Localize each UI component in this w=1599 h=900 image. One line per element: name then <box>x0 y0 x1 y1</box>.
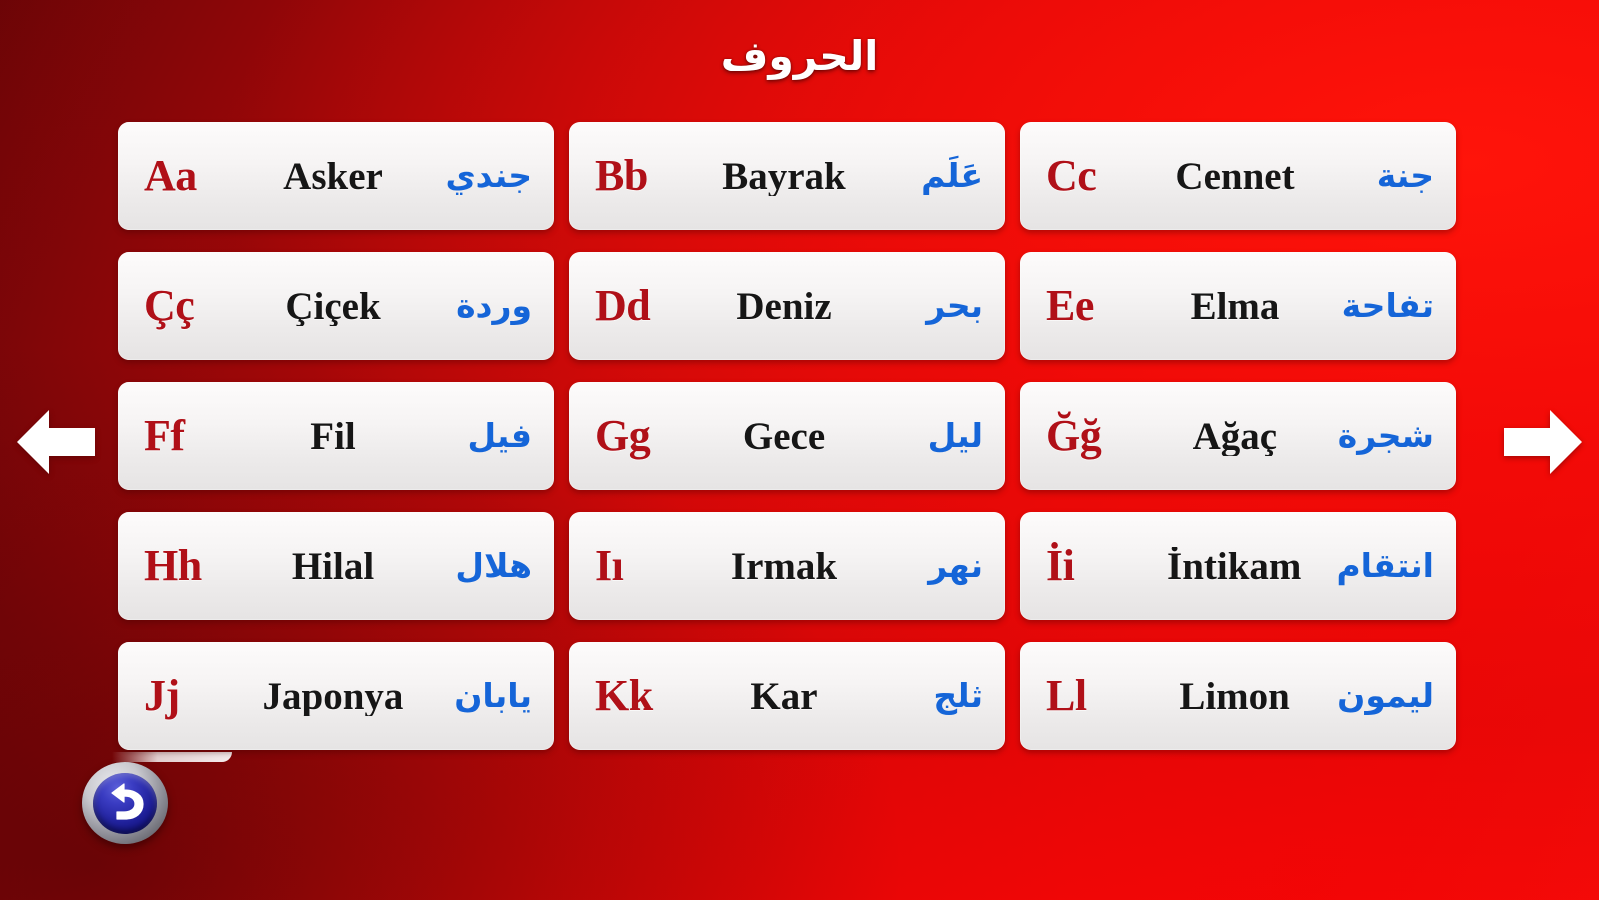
card-word-turkish: Deniz <box>681 287 887 326</box>
letter-card[interactable]: CcCennetجنة <box>1020 122 1456 230</box>
card-word-arabic: فيل <box>436 417 532 455</box>
card-word-arabic: شجرة <box>1338 417 1434 455</box>
letter-card[interactable]: HhHilalهلال <box>118 512 554 620</box>
card-letter: Jj <box>144 674 230 718</box>
letter-card[interactable]: DdDenizبحر <box>569 252 1005 360</box>
previous-page-button[interactable] <box>8 396 104 488</box>
letter-card[interactable]: KkKarثلج <box>569 642 1005 750</box>
next-page-button[interactable] <box>1495 396 1591 488</box>
card-word-arabic: وردة <box>436 287 532 325</box>
card-word-turkish: Hilal <box>230 547 436 586</box>
card-letter: Ff <box>144 414 230 458</box>
letter-card[interactable]: IıIrmakنهر <box>569 512 1005 620</box>
card-word-turkish: Japonya <box>230 677 436 716</box>
card-letter: Dd <box>595 284 681 328</box>
card-word-arabic: ليل <box>887 417 983 455</box>
card-word-turkish: Asker <box>230 157 436 196</box>
card-letter: Cc <box>1046 154 1132 198</box>
card-letter: Iı <box>595 544 681 588</box>
card-word-arabic: ليمون <box>1337 677 1434 715</box>
page-title: الحروف <box>721 36 879 77</box>
letter-card[interactable]: LlLimonليمون <box>1020 642 1456 750</box>
app-root: الحروف AaAskerجنديBbBayrakعَلَمCcCennetج… <box>0 0 1599 900</box>
card-letter: Gg <box>595 414 681 458</box>
arrow-right-icon <box>1500 400 1586 484</box>
title-bar: الحروف <box>0 0 1599 112</box>
card-word-turkish: Fil <box>230 417 436 456</box>
letter-card[interactable]: ĞğAğaçشجرة <box>1020 382 1456 490</box>
letter-card[interactable]: BbBayrakعَلَم <box>569 122 1005 230</box>
card-letter: Aa <box>144 154 230 198</box>
card-word-arabic: جندي <box>436 157 532 195</box>
letter-card[interactable]: JjJaponyaيابان <box>118 642 554 750</box>
letter-card[interactable]: ÇçÇiçekوردة <box>118 252 554 360</box>
back-button[interactable] <box>82 762 168 844</box>
card-word-arabic: انتقام <box>1336 547 1434 585</box>
letter-card[interactable]: İiİntikamانتقام <box>1020 512 1456 620</box>
letter-card[interactable]: GgGeceليل <box>569 382 1005 490</box>
letter-card[interactable]: FfFilفيل <box>118 382 554 490</box>
card-letter: İi <box>1046 544 1132 588</box>
card-word-arabic: عَلَم <box>887 157 983 195</box>
card-word-turkish: Irmak <box>681 547 887 586</box>
card-letter: Hh <box>144 544 230 588</box>
card-letter: Kk <box>595 674 681 718</box>
letter-card[interactable]: AaAskerجندي <box>118 122 554 230</box>
card-word-turkish: Çiçek <box>230 287 436 326</box>
card-word-turkish: Elma <box>1132 287 1338 326</box>
card-word-turkish: Kar <box>681 677 887 716</box>
card-word-arabic: هلال <box>436 547 532 585</box>
card-letter: Ll <box>1046 674 1132 718</box>
card-letter: Ğğ <box>1046 414 1132 458</box>
card-letter: Bb <box>595 154 681 198</box>
card-word-turkish: Bayrak <box>681 157 887 196</box>
card-word-arabic: تفاحة <box>1338 287 1434 325</box>
card-word-arabic: نهر <box>887 547 983 585</box>
card-letter: Çç <box>144 284 230 328</box>
card-word-arabic: يابان <box>436 677 532 715</box>
card-word-turkish: Ağaç <box>1132 417 1338 456</box>
decorative-bevel <box>112 752 232 762</box>
card-word-turkish: İntikam <box>1132 547 1336 586</box>
arrow-left-icon <box>13 400 99 484</box>
card-word-turkish: Gece <box>681 417 887 456</box>
card-word-turkish: Cennet <box>1132 157 1338 196</box>
card-word-arabic: بحر <box>887 287 983 325</box>
card-word-arabic: جنة <box>1338 157 1434 195</box>
card-letter: Ee <box>1046 284 1132 328</box>
card-word-turkish: Limon <box>1132 677 1337 716</box>
back-arrow-icon <box>93 773 157 834</box>
letter-card-grid: AaAskerجنديBbBayrakعَلَمCcCennetجنةÇçÇiç… <box>118 122 1456 750</box>
card-word-arabic: ثلج <box>887 677 983 715</box>
letter-card[interactable]: EeElmaتفاحة <box>1020 252 1456 360</box>
